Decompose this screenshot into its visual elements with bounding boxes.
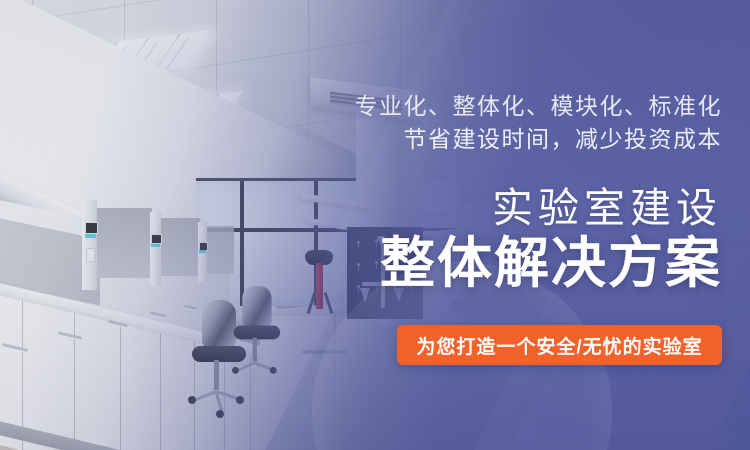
subtitle-line-2: 节省建设时间，减少投资成本 — [404, 126, 723, 153]
subtitle-line-1: 专业化、整体化、模块化、标准化 — [355, 93, 723, 120]
cta-button-label: 为您打造一个安全/无忧的实验室 — [416, 332, 702, 359]
headline-bold: 整体解决方案 — [380, 234, 722, 292]
laboratory-promo-banner: 专业化、整体化、模块化、标准化 节省建设时间，减少投资成本 实验室建设 整体解决… — [0, 0, 750, 450]
headline-light: 实验室建设 — [492, 186, 722, 231]
cta-button[interactable]: 为您打造一个安全/无忧的实验室 — [397, 325, 722, 365]
